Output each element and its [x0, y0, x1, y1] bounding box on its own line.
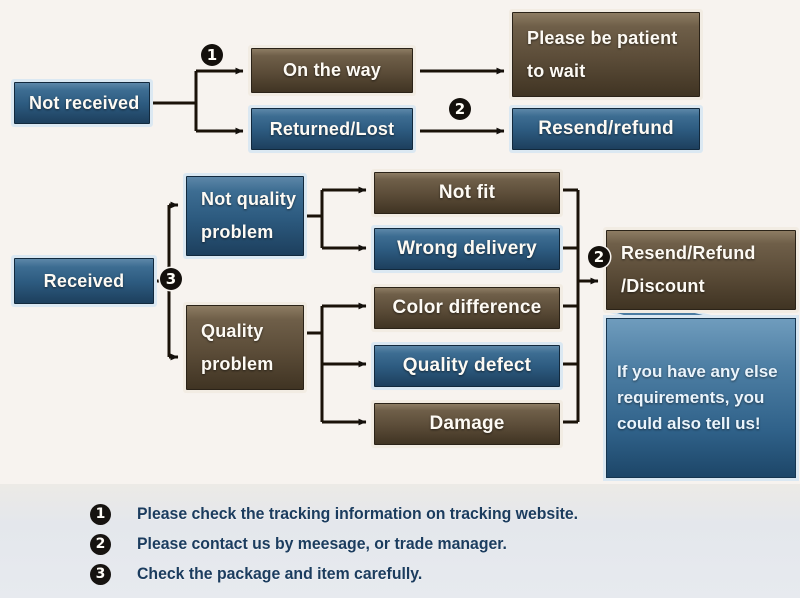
- step-marker-1: 1: [201, 44, 223, 66]
- node-color-difference: Color difference: [374, 287, 560, 329]
- legend-item-1: 1Please check the tracking information o…: [90, 500, 611, 528]
- node-label-line2: problem: [201, 354, 303, 375]
- node-returned-lost: Returned/Lost: [251, 108, 413, 150]
- node-label: Damage: [429, 413, 504, 435]
- legend-text: Please contact us by meesage, or trade m…: [137, 534, 507, 554]
- node-not-fit: Not fit: [374, 172, 560, 214]
- legend-text: Please check the tracking information on…: [137, 504, 578, 524]
- bubble-line: could also tell us!: [617, 414, 795, 434]
- node-resend-refund-discount: Resend/Refund/Discount: [606, 230, 796, 310]
- node-damage: Damage: [374, 403, 560, 445]
- node-label-line2: /Discount: [621, 276, 795, 297]
- node-received: Received: [14, 258, 154, 304]
- legend-number-badge: 2: [90, 534, 111, 555]
- bubble-line: requirements, you: [617, 388, 795, 408]
- legend-item-2: 2Please contact us by meesage, or trade …: [90, 530, 535, 558]
- step-marker-2: 2: [588, 246, 610, 268]
- node-label: Quality: [201, 321, 303, 342]
- tell-us-bubble: If you have any elserequirements, youcou…: [606, 318, 796, 478]
- node-label: Returned/Lost: [270, 119, 395, 140]
- node-label: Resend/refund: [538, 118, 674, 140]
- node-please-be-patient: Please be patientto wait: [512, 12, 700, 97]
- node-label: Color difference: [393, 297, 542, 319]
- node-label: Wrong delivery: [397, 238, 537, 260]
- legend-number-badge: 1: [90, 504, 111, 525]
- node-label: Resend/Refund: [621, 243, 795, 264]
- node-label: Not fit: [439, 182, 495, 204]
- legend-panel: 1Please check the tracking information o…: [0, 484, 800, 598]
- node-label: Please be patient: [527, 28, 699, 49]
- step-marker-3: 3: [160, 268, 182, 290]
- node-label: Not received: [29, 93, 149, 114]
- node-resend-refund: Resend/refund: [512, 108, 700, 150]
- flowchart-canvas: Not receivedOn the wayReturned/LostPleas…: [0, 0, 800, 598]
- step-marker-2: 2: [449, 98, 471, 120]
- legend-item-3: 3Check the package and item carefully.: [90, 560, 444, 588]
- node-label: Quality defect: [403, 355, 531, 377]
- node-label-line2: problem: [201, 222, 303, 243]
- node-quality-problem: Qualityproblem: [186, 305, 304, 390]
- node-on-the-way: On the way: [251, 48, 413, 93]
- node-label-line2: to wait: [527, 61, 699, 82]
- legend-text: Check the package and item carefully.: [137, 564, 422, 584]
- node-label: Not quality: [201, 189, 303, 210]
- legend-number-badge: 3: [90, 564, 111, 585]
- node-wrong-delivery: Wrong delivery: [374, 228, 560, 270]
- node-label: On the way: [283, 60, 381, 81]
- node-quality-defect: Quality defect: [374, 345, 560, 387]
- node-not-received: Not received: [14, 82, 150, 124]
- node-label: Received: [44, 271, 125, 292]
- node-not-quality-problem: Not qualityproblem: [186, 176, 304, 256]
- bubble-line: If you have any else: [617, 362, 795, 382]
